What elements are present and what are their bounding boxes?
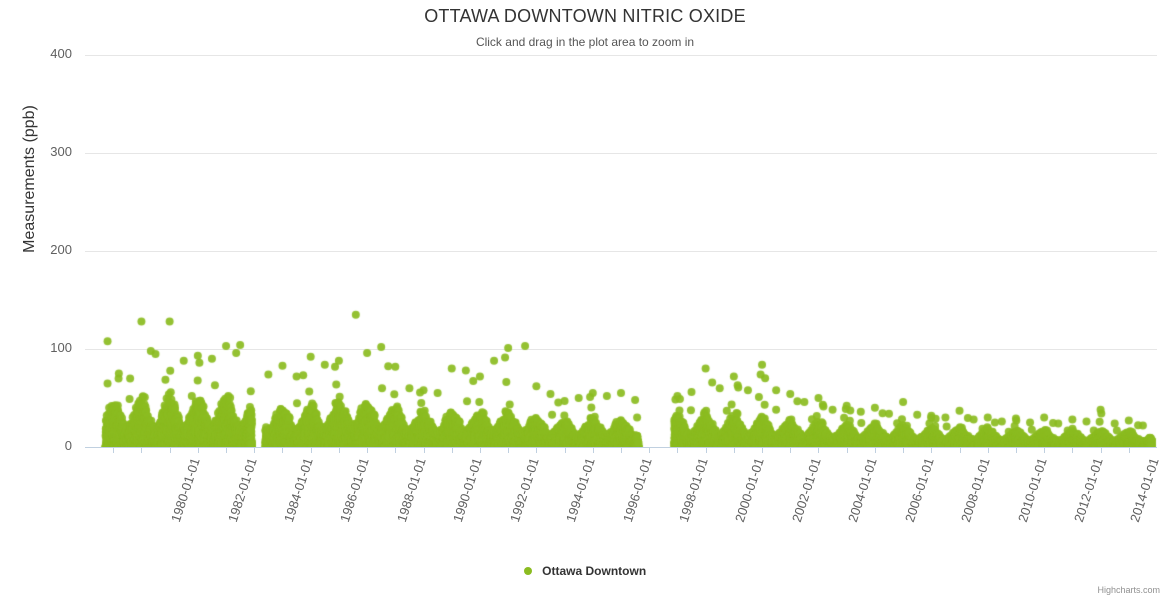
x-axis-tick <box>706 447 707 453</box>
legend-marker-icon <box>524 567 532 575</box>
x-axis-tick <box>649 447 650 453</box>
y-axis-tick-label: 300 <box>12 144 72 159</box>
x-axis-tick <box>113 447 114 453</box>
x-axis-tick <box>931 447 932 453</box>
x-axis-tick-label: 1992-01-01 <box>507 456 542 524</box>
x-axis-tick <box>875 447 876 453</box>
x-axis-tick <box>903 447 904 453</box>
x-axis-tick <box>339 447 340 453</box>
x-axis-tick-label: 1998-01-01 <box>676 456 711 524</box>
highcharts-container: OTTAWA DOWNTOWN NITRIC OXIDE Click and d… <box>0 0 1170 600</box>
x-axis-tick <box>424 447 425 453</box>
x-axis-tick <box>734 447 735 453</box>
y-axis-tick-label: 100 <box>12 340 72 355</box>
x-axis-tick <box>170 447 171 453</box>
x-axis-tick-label: 1988-01-01 <box>394 456 429 524</box>
x-axis-tick <box>621 447 622 453</box>
x-axis-tick <box>818 447 819 453</box>
x-axis-tick <box>452 447 453 453</box>
x-axis-tick <box>536 447 537 453</box>
x-axis-tick <box>198 447 199 453</box>
chart-subtitle: Click and drag in the plot area to zoom … <box>0 35 1170 49</box>
x-axis-tick-label: 1994-01-01 <box>563 456 598 524</box>
x-axis-tick <box>1072 447 1073 453</box>
x-axis-tick <box>593 447 594 453</box>
x-axis-tick-label: 2004-01-01 <box>845 456 880 524</box>
x-axis-tick-label: 2006-01-01 <box>902 456 937 524</box>
x-axis-tick <box>565 447 566 453</box>
chart-legend: Ottawa Downtown <box>0 563 1170 578</box>
x-axis-tick <box>677 447 678 453</box>
highcharts-credit[interactable]: Highcharts.com <box>1097 585 1160 595</box>
x-axis-tick-label: 2014-01-01 <box>1127 456 1162 524</box>
x-axis-tick <box>960 447 961 453</box>
x-axis-tick <box>395 447 396 453</box>
x-axis-tick <box>1016 447 1017 453</box>
x-axis-tick <box>311 447 312 453</box>
x-axis-tick <box>480 447 481 453</box>
x-axis-tick <box>254 447 255 453</box>
x-axis-tick <box>282 447 283 453</box>
x-axis-tick <box>367 447 368 453</box>
x-axis-tick-label: 2012-01-01 <box>1071 456 1106 524</box>
y-axis-tick-label: 0 <box>12 438 72 453</box>
legend-item-ottawa-downtown[interactable]: Ottawa Downtown <box>524 563 646 578</box>
legend-label: Ottawa Downtown <box>542 564 646 578</box>
x-axis-tick <box>1129 447 1130 453</box>
x-axis-tick-label: 1996-01-01 <box>620 456 655 524</box>
x-axis-tick <box>226 447 227 453</box>
x-axis-tick <box>1101 447 1102 453</box>
y-axis-tick-label: 200 <box>12 242 72 257</box>
y-axis-tick-label: 400 <box>12 46 72 61</box>
chart-title: OTTAWA DOWNTOWN NITRIC OXIDE <box>0 6 1170 27</box>
x-axis-tick <box>508 447 509 453</box>
x-axis-tick-label: 2008-01-01 <box>958 456 993 524</box>
x-axis-tick-label: 2000-01-01 <box>732 456 767 524</box>
x-axis-tick <box>847 447 848 453</box>
x-axis-tick <box>988 447 989 453</box>
x-axis-tick-label: 2010-01-01 <box>1014 456 1049 524</box>
x-axis-tick-label: 1986-01-01 <box>337 456 372 524</box>
x-axis-tick-label: 1984-01-01 <box>281 456 316 524</box>
x-axis-tick <box>790 447 791 453</box>
scatter-plot-area[interactable] <box>85 55 1157 447</box>
x-axis-tick-label: 1990-01-01 <box>450 456 485 524</box>
x-axis-tick-label: 1982-01-01 <box>225 456 260 524</box>
x-axis-tick <box>762 447 763 453</box>
x-axis-tick-label: 1980-01-01 <box>168 456 203 524</box>
x-axis-tick-label: 2002-01-01 <box>789 456 824 524</box>
x-axis-tick <box>141 447 142 453</box>
x-axis-tick <box>1044 447 1045 453</box>
